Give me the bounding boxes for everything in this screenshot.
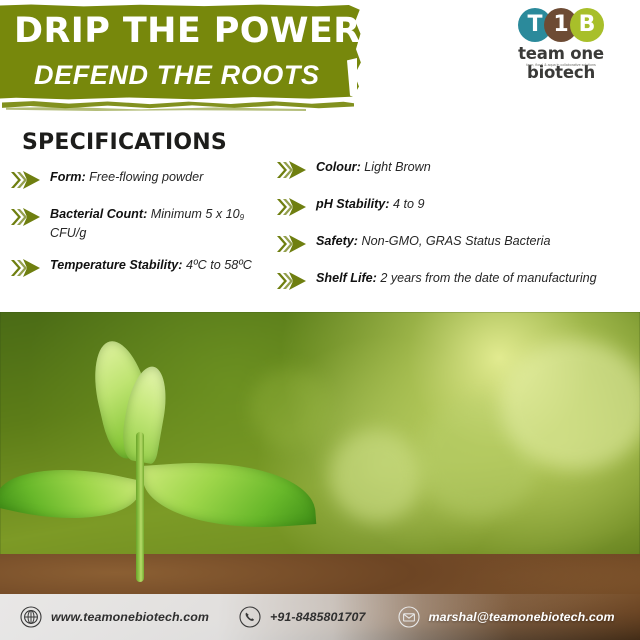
- spec-label-colour: Colour:: [316, 160, 361, 174]
- spec-label-safety: Safety:: [316, 234, 358, 248]
- spec-text-shelf-life: Shelf Life: 2 years from the date of man…: [316, 269, 597, 287]
- spec-item-temperature-stability: Temperature Stability: 4ºC to 58ºC: [10, 256, 275, 279]
- double-chevron-arrow-icon: [276, 196, 310, 218]
- spec-text-ph-stability: pH Stability: 4 to 9: [316, 195, 424, 213]
- header-banner: DRIP THE POWER DEFEND THE ROOTS: [0, 0, 372, 118]
- spec-value-temperature-stability: 4ºC to 58ºC: [183, 258, 252, 272]
- double-chevron-arrow-icon: [276, 233, 310, 255]
- spec-item-safety: Safety: Non-GMO, GRAS Status Bacteria: [276, 232, 636, 255]
- seedling-plant: [40, 332, 370, 582]
- spec-item-ph-stability: pH Stability: 4 to 9: [276, 195, 636, 218]
- globe-icon: [20, 606, 42, 628]
- spec-text-form: Form: Free-flowing powder: [50, 168, 203, 186]
- seedling-photo: www.teamonebiotech.com +91-8485801707: [0, 312, 640, 640]
- footer-email[interactable]: marshal@teamonebiotech.com: [398, 606, 615, 628]
- spec-value-shelf-life: 2 years from the date of manufacturing: [377, 271, 597, 285]
- double-chevron-arrow-icon: [10, 169, 44, 191]
- footer-website-text: www.teamonebiotech.com: [51, 610, 209, 624]
- specifications-heading: SPECIFICATIONS: [22, 130, 227, 155]
- poster-root: DRIP THE POWER DEFEND THE ROOTS T 1 B te…: [0, 0, 640, 640]
- spec-text-temperature-stability: Temperature Stability: 4ºC to 58ºC: [50, 256, 252, 274]
- phone-icon: [239, 606, 261, 628]
- spec-label-ph-stability: pH Stability:: [316, 197, 389, 211]
- spec-value-colour: Light Brown: [361, 160, 431, 174]
- spec-value-bacterial-count-unit: CFU/g: [50, 226, 86, 240]
- spec-label-form: Form:: [50, 170, 86, 184]
- footer-phone-text: +91-8485801707: [270, 610, 365, 624]
- double-chevron-arrow-icon: [276, 159, 310, 181]
- page-title: DRIP THE POWER: [14, 14, 361, 49]
- bokeh-light-3: [500, 340, 640, 470]
- leaf-right: [142, 454, 316, 536]
- spec-item-colour: Colour: Light Brown: [276, 158, 636, 181]
- double-chevron-arrow-icon: [10, 257, 44, 279]
- spec-label-shelf-life: Shelf Life:: [316, 271, 377, 285]
- spec-value-bacterial-count-exponent: 9: [240, 213, 244, 222]
- contact-footer: www.teamonebiotech.com +91-8485801707: [0, 594, 640, 640]
- footer-email-text: marshal@teamonebiotech.com: [429, 610, 615, 624]
- spec-item-bacterial-count: Bacterial Count: Minimum 5 x 109 CFU/g: [10, 205, 275, 242]
- logo-circle-b: B: [570, 8, 604, 42]
- spec-value-ph-stability: 4 to 9: [389, 197, 424, 211]
- double-chevron-arrow-icon: [10, 206, 44, 228]
- spec-label-temperature-stability: Temperature Stability:: [50, 258, 183, 272]
- envelope-icon: [398, 606, 420, 628]
- double-chevron-arrow-icon: [276, 270, 310, 292]
- spec-value-form: Free-flowing powder: [86, 170, 204, 184]
- spec-label-bacterial-count: Bacterial Count:: [50, 207, 147, 221]
- specifications-right-column: Colour: Light Brown pH Stability: 4 to 9: [276, 158, 636, 306]
- spec-text-bacterial-count: Bacterial Count: Minimum 5 x 109 CFU/g: [50, 205, 275, 242]
- footer-phone[interactable]: +91-8485801707: [239, 606, 365, 628]
- spec-item-form: Form: Free-flowing powder: [10, 168, 275, 191]
- brand-logo: T 1 B team one biotech farm, floral & aq…: [494, 8, 628, 74]
- spec-item-shelf-life: Shelf Life: 2 years from the date of man…: [276, 269, 636, 292]
- spec-text-colour: Colour: Light Brown: [316, 158, 431, 176]
- logo-circles: T 1 B: [518, 8, 606, 42]
- logo-tagline: farm, floral & aqua in collaborative sol…: [502, 63, 620, 67]
- footer-website[interactable]: www.teamonebiotech.com: [20, 606, 209, 628]
- plant-stem: [136, 432, 144, 582]
- spec-value-bacterial-count: Minimum 5 x 10: [147, 207, 239, 221]
- spec-value-safety: Non-GMO, GRAS Status Bacteria: [358, 234, 550, 248]
- specifications-left-column: Form: Free-flowing powder Bacterial Coun…: [10, 168, 275, 293]
- page-subtitle: DEFEND THE ROOTS: [34, 62, 320, 89]
- spec-text-safety: Safety: Non-GMO, GRAS Status Bacteria: [316, 232, 550, 250]
